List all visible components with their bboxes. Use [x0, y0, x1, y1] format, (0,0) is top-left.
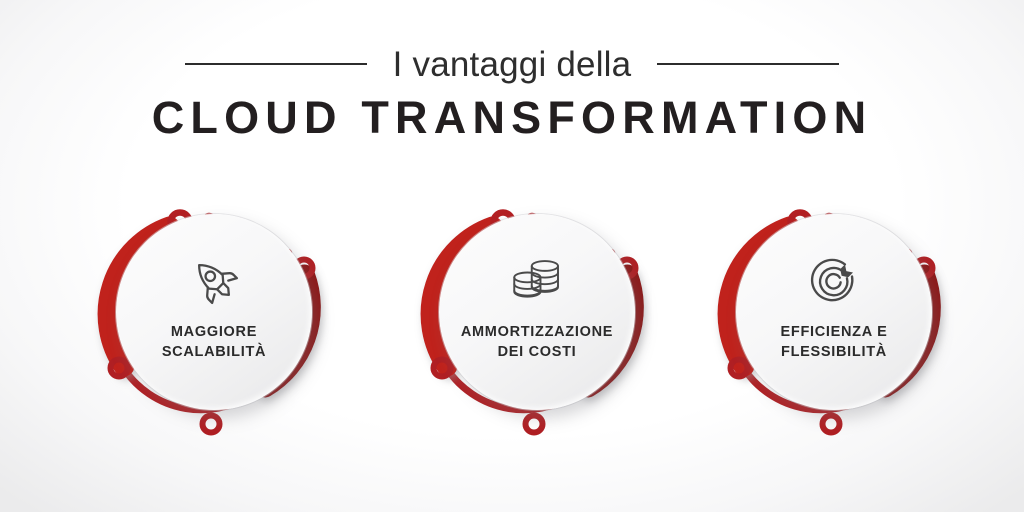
title-rule-right	[657, 63, 839, 65]
ring-marker-bottom	[823, 416, 840, 433]
badge-ammortizzazione-dei-costi[interactable]: AMMORTIZZAZIONE DEI COSTI	[395, 178, 675, 468]
badge-content: MAGGIORE SCALABILITÀ	[116, 214, 312, 410]
title-rule-left	[185, 63, 367, 65]
badge-content: AMMORTIZZAZIONE DEI COSTI	[439, 214, 635, 410]
badge-label: EFFICIENZA E FLESSIBILITÀ	[781, 322, 888, 362]
rocket-icon	[186, 252, 242, 308]
page-subtitle: I vantaggi della	[393, 47, 632, 82]
benefit-badges: MAGGIORE SCALABILITÀ	[0, 178, 1024, 478]
ring-marker-bottom	[526, 416, 543, 433]
target-bullseye-icon	[806, 252, 862, 308]
badge-label: AMMORTIZZAZIONE DEI COSTI	[461, 322, 613, 362]
badge-content: EFFICIENZA E FLESSIBILITÀ	[736, 214, 932, 410]
coins-stack-icon	[509, 252, 565, 308]
badge-efficienza-e-flessibilita[interactable]: EFFICIENZA E FLESSIBILITÀ	[692, 178, 972, 468]
page-title: CLOUD TRANSFORMATION	[0, 92, 1024, 144]
badge-label: MAGGIORE SCALABILITÀ	[162, 322, 266, 362]
subtitle-row: I vantaggi della	[0, 42, 1024, 86]
ring-marker-bottom	[203, 416, 220, 433]
badge-maggiore-scalabilita[interactable]: MAGGIORE SCALABILITÀ	[72, 178, 352, 468]
